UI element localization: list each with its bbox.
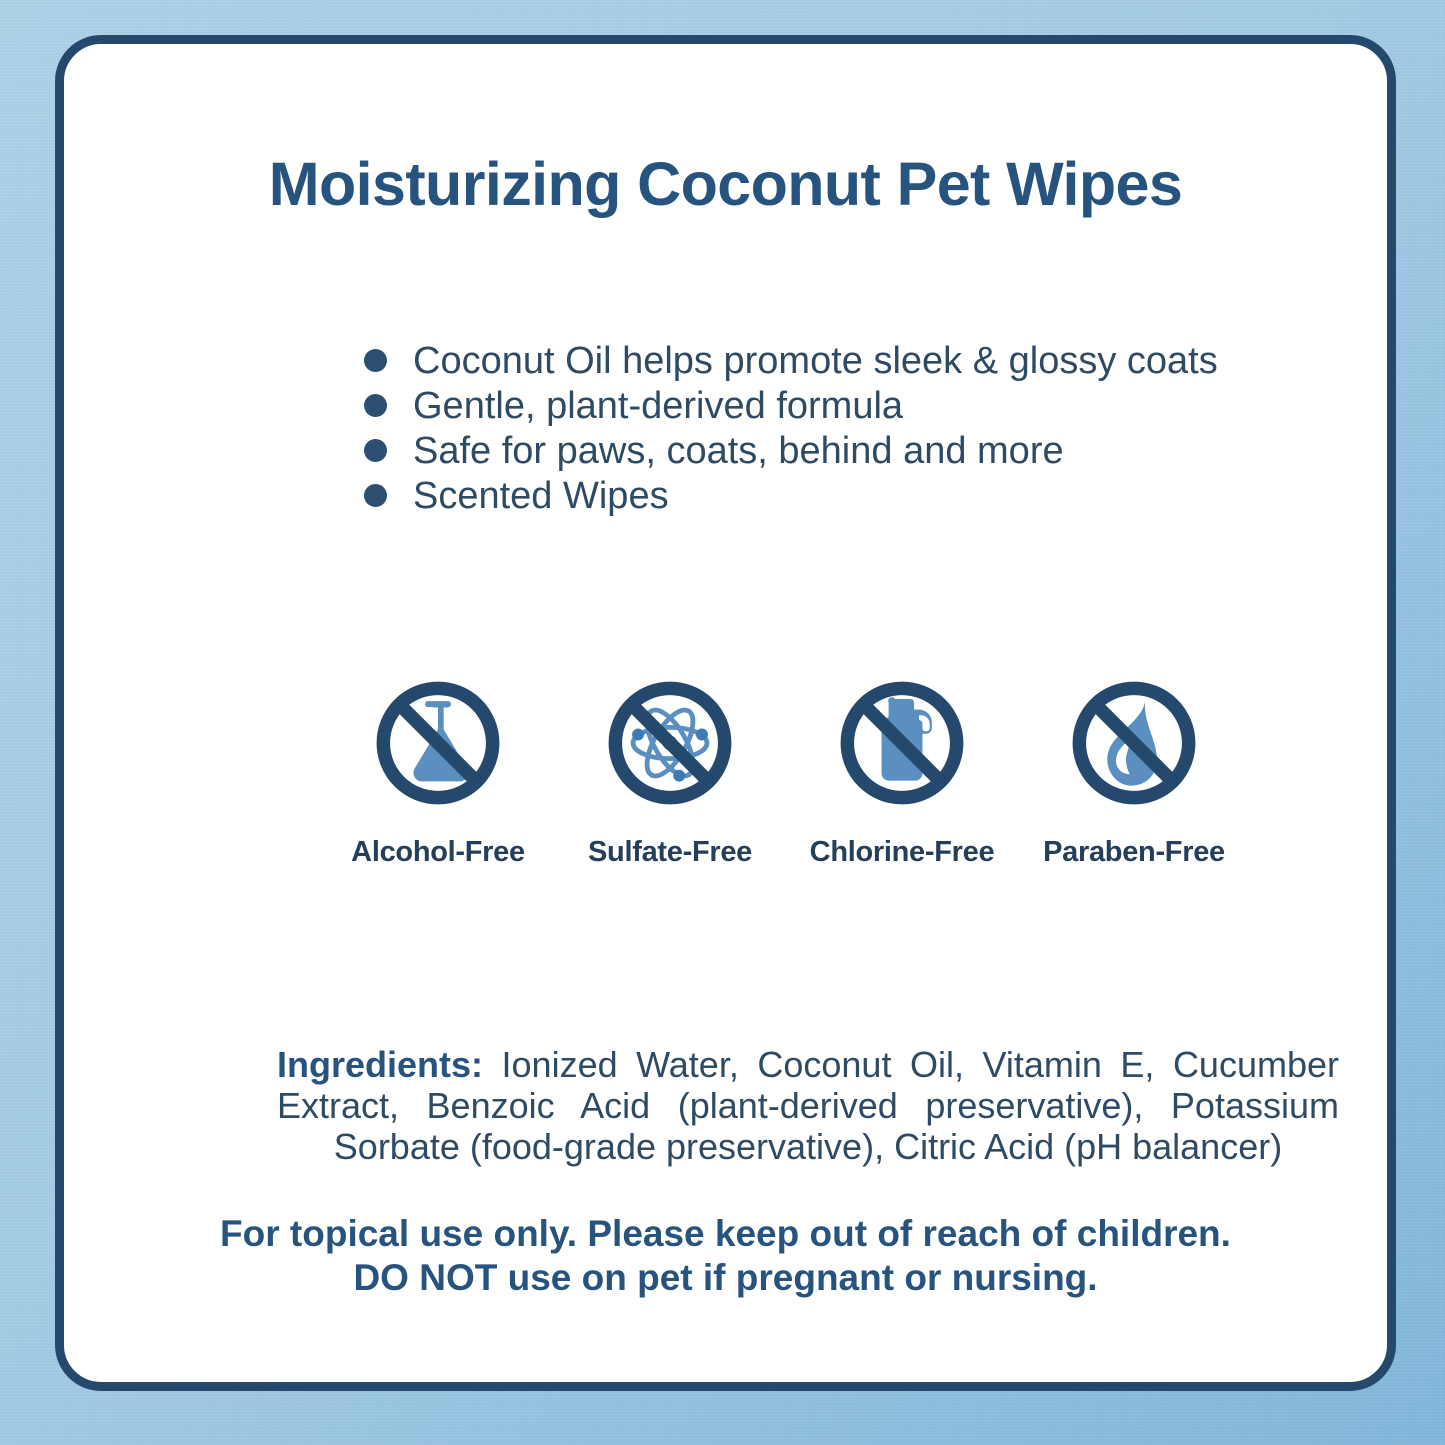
- badge-label: Sulfate-Free: [588, 836, 752, 869]
- atom-icon: [599, 672, 741, 814]
- flask-icon: [367, 672, 509, 814]
- page-title: Moisturizing Coconut Pet Wipes: [64, 149, 1387, 219]
- product-info-card: Moisturizing Coconut Pet Wipes Coconut O…: [55, 35, 1396, 1391]
- benefits-list: Coconut Oil helps promote sleek & glossy…: [364, 340, 1314, 520]
- warning-line-2: DO NOT use on pet if pregnant or nursing…: [64, 1256, 1387, 1300]
- badge-alcohol-free: Alcohol-Free: [322, 672, 554, 869]
- ingredients-block: Ingredients: Ionized Water, Coconut Oil,…: [277, 1044, 1339, 1167]
- badge-paraben-free: Paraben-Free: [1018, 672, 1250, 869]
- badge-chlorine-free: Chlorine-Free: [786, 672, 1018, 869]
- free-from-badges: Alcohol-Free Sulfate-Free: [322, 672, 1282, 869]
- list-item: Gentle, plant-derived formula: [364, 385, 1314, 430]
- benefit-label: Scented Wipes: [413, 475, 669, 517]
- ingredients-heading: Ingredients:: [277, 1044, 483, 1085]
- badge-label: Chlorine-Free: [810, 836, 995, 869]
- droplet-icon: [1063, 672, 1205, 814]
- badge-label: Alcohol-Free: [351, 836, 525, 869]
- bullet-dot-icon: [364, 394, 387, 417]
- infographic-page: Moisturizing Coconut Pet Wipes Coconut O…: [0, 0, 1445, 1445]
- badge-label: Paraben-Free: [1043, 836, 1225, 869]
- warning-line-1: For topical use only. Please keep out of…: [64, 1212, 1387, 1256]
- bullet-dot-icon: [364, 484, 387, 507]
- list-item: Coconut Oil helps promote sleek & glossy…: [364, 340, 1314, 385]
- benefit-label: Safe for paws, coats, behind and more: [413, 430, 1064, 472]
- jug-icon: [831, 672, 973, 814]
- badge-sulfate-free: Sulfate-Free: [554, 672, 786, 869]
- list-item: Scented Wipes: [364, 475, 1314, 520]
- bullet-dot-icon: [364, 349, 387, 372]
- bullet-dot-icon: [364, 439, 387, 462]
- list-item: Safe for paws, coats, behind and more: [364, 430, 1314, 475]
- benefit-label: Coconut Oil helps promote sleek & glossy…: [413, 340, 1218, 382]
- warning-block: For topical use only. Please keep out of…: [64, 1212, 1387, 1300]
- benefit-label: Gentle, plant-derived formula: [413, 385, 903, 427]
